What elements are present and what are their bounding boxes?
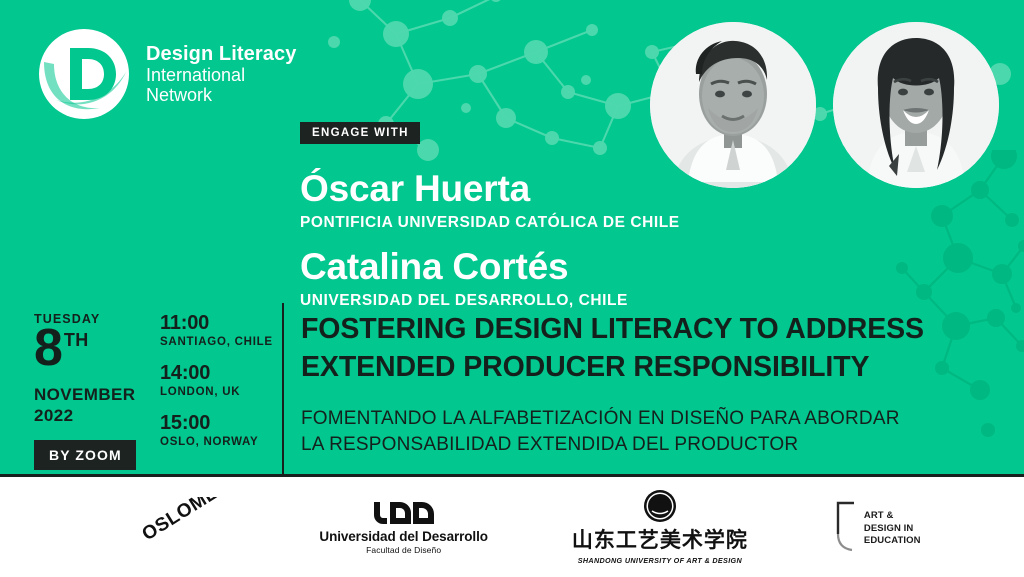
speaker-1-name: Óscar Huerta (300, 170, 680, 209)
talk-title-en-line2: EXTENDED PRODUCER RESPONSIBILITY (301, 349, 991, 387)
speakers-block: ENGAGE WITH Óscar Huerta PONTIFICIA UNIV… (300, 122, 680, 311)
speaker-1-affiliation: PONTIFICIA UNIVERSIDAD CATÓLICA DE CHILE (300, 214, 680, 233)
ade-line-3: EDUCATION (864, 535, 921, 548)
engage-with-badge: ENGAGE WITH (300, 122, 420, 144)
brand-line-1: Design Literacy (146, 43, 296, 65)
udd-name: Universidad del Desarrollo (319, 529, 487, 544)
udd-faculty: Facultad de Diseño (319, 545, 487, 555)
by-zoom-badge[interactable]: BY ZOOM (34, 440, 136, 470)
time-value: 14:00 (160, 362, 275, 384)
brand-logo-lockup: Design Literacy International Network (38, 28, 296, 120)
talk-title-en-line1: FOSTERING DESIGN LITERACY TO ADDRESS (301, 311, 991, 349)
design-literacy-logo-icon (38, 28, 130, 120)
time-item: 15:00 OSLO, NORWAY (160, 412, 275, 448)
brand-line-3: Network (146, 85, 296, 105)
oslomet-logo-icon: OSLOMET (139, 497, 235, 557)
ade-line-1: ART & (864, 510, 921, 523)
portrait-catalina-cortes-icon (833, 22, 999, 188)
talk-title-es-line2: LA RESPONSABILIDAD EXTENDIDA DEL PRODUCT… (301, 432, 991, 459)
oslomet-wordmark: OSLOMET (139, 497, 232, 545)
time-item: 14:00 LONDON, UK (160, 362, 275, 398)
ade-bracket-icon (832, 500, 858, 554)
speaker-photo-2 (833, 22, 999, 188)
time-place: OSLO, NORWAY (160, 436, 275, 448)
footer-logos: OSLOMET Universidad del Desarrollo Facul… (139, 489, 920, 565)
time-place: SANTIAGO, CHILE (160, 336, 275, 348)
footer-logo-oslomet: OSLOMET (139, 497, 235, 557)
shandong-seal-icon (643, 489, 677, 523)
brand-logo-text: Design Literacy International Network (146, 43, 296, 106)
speaker-1: Óscar Huerta PONTIFICIA UNIVERSIDAD CATÓ… (300, 170, 680, 232)
footer-logo-art-design-education: ART & DESIGN IN EDUCATION (832, 500, 921, 554)
time-place: LONDON, UK (160, 386, 275, 398)
footer-logo-bar: OSLOMET Universidad del Desarrollo Facul… (0, 477, 1024, 577)
shandong-name-cn: 山东工艺美术学院 (572, 524, 748, 554)
talk-title-block: FOSTERING DESIGN LITERACY TO ADDRESS EXT… (301, 311, 991, 459)
event-month: NOVEMBER (34, 385, 174, 406)
speaker-2-name: Catalina Cortés (300, 248, 680, 287)
ade-text: ART & DESIGN IN EDUCATION (858, 506, 921, 548)
ade-line-2: DESIGN IN (864, 523, 921, 536)
hero-band: Design Literacy International Network (0, 0, 1024, 477)
time-value: 11:00 (160, 312, 275, 334)
time-item: 11:00 SANTIAGO, CHILE (160, 312, 275, 348)
footer-logo-shandong: 山东工艺美术学院 SHANDONG UNIVERSITY OF ART & DE… (572, 489, 748, 565)
event-poster: Design Literacy International Network (0, 0, 1024, 577)
event-date-block: TUESDAY 8 TH NOVEMBER 2022 BY ZOOM (34, 312, 174, 470)
vertical-divider (282, 303, 284, 475)
udd-text: Universidad del Desarrollo Facultad de D… (319, 529, 487, 555)
event-year: 2022 (34, 406, 174, 426)
event-day-number: 8 (34, 324, 62, 373)
event-times-block: 11:00 SANTIAGO, CHILE 14:00 LONDON, UK 1… (160, 312, 275, 448)
speaker-2: Catalina Cortés UNIVERSIDAD DEL DESARROL… (300, 248, 680, 310)
shandong-name-en: SHANDONG UNIVERSITY OF ART & DESIGN (578, 556, 742, 565)
brand-line-2: International (146, 65, 296, 85)
speaker-2-affiliation: UNIVERSIDAD DEL DESARROLLO, CHILE (300, 292, 680, 311)
time-value: 15:00 (160, 412, 275, 434)
event-day-wrapper: 8 TH (34, 324, 174, 373)
footer-logo-udd: Universidad del Desarrollo Facultad de D… (319, 500, 487, 555)
talk-title-es-line1: FOMENTANDO LA ALFABETIZACIÓN EN DISEÑO P… (301, 406, 991, 433)
udd-mark-icon (372, 500, 436, 526)
event-day-ordinal: TH (64, 330, 89, 351)
